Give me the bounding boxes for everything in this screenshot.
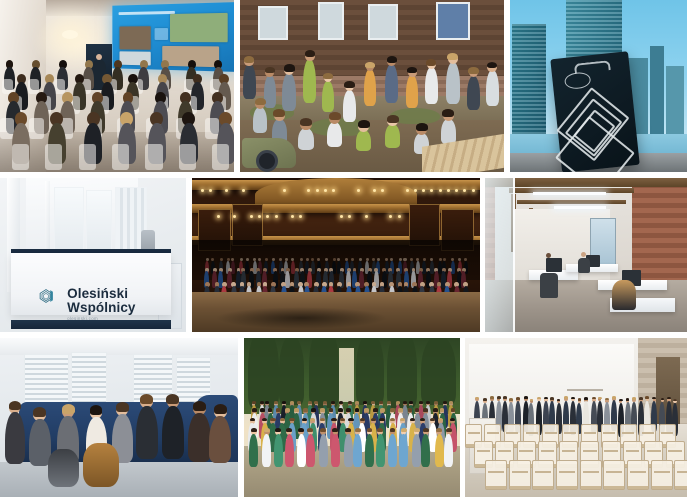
person-silhouette (486, 62, 499, 106)
group-member (376, 429, 385, 467)
group-member (319, 429, 328, 467)
person-silhouette (322, 74, 334, 112)
chair-back (179, 144, 196, 170)
gallery-tile-office-reception-logo[interactable]: Olesiński Wspólnicy olesinski.com (0, 178, 186, 332)
loft-office-scene (485, 178, 687, 332)
wooden-chair (556, 460, 578, 490)
gallery-tile-loft-office[interactable] (485, 178, 687, 332)
theatre-light (291, 215, 294, 218)
theatre-light (447, 189, 450, 192)
person-silhouette (441, 110, 456, 144)
group-member (306, 429, 315, 467)
theatre-light (439, 189, 442, 192)
theatre-light (266, 215, 269, 218)
dog-left (48, 449, 79, 487)
theatre-light (250, 215, 253, 218)
theatre-light (398, 215, 401, 218)
company-logo-icon (30, 288, 62, 304)
group-member (297, 429, 306, 467)
chair-back (112, 144, 129, 170)
theatre-light (332, 189, 335, 192)
dog-right (83, 443, 119, 488)
branded-tote-skyline-scene (510, 0, 687, 172)
volunteer-gardening-scene (240, 0, 504, 172)
theatre-light (365, 215, 368, 218)
gallery-tile-team-with-dogs[interactable] (0, 338, 238, 497)
branded-tote-bag (550, 51, 639, 172)
theatre-light (406, 189, 409, 192)
group-member (435, 429, 444, 467)
theatre-light (472, 189, 475, 192)
person-silhouette (467, 68, 480, 110)
team-member (188, 402, 211, 462)
team-member (209, 405, 231, 463)
gallery-tile-conference-presentation[interactable] (0, 0, 234, 172)
theatre-light (217, 215, 220, 218)
person-silhouette (327, 113, 342, 147)
theatre-light (283, 189, 286, 192)
wooden-chair (603, 460, 625, 490)
theatre-group-scene (192, 178, 480, 332)
brand-name-line1: Olesiński (67, 287, 135, 301)
theatre-light (357, 189, 360, 192)
theatre-light (430, 189, 433, 192)
theatre-light (209, 189, 212, 192)
team-member (136, 395, 158, 459)
person-silhouette (343, 82, 356, 122)
theatre-light (225, 189, 228, 192)
gallery-tile-volunteer-gardening[interactable] (240, 0, 504, 172)
person-silhouette (406, 68, 418, 108)
reception-desk: Olesiński Wspólnicy olesinski.com (11, 253, 171, 315)
conference-presentation-scene (0, 0, 234, 172)
theatre-light (348, 215, 351, 218)
theatre-light (373, 189, 376, 192)
person-silhouette (243, 57, 256, 99)
photo-gallery-grid: Olesiński Wspólnicy olesinski.com (0, 0, 687, 497)
company-logo-text: Olesiński Wspólnicy olesinski.com (67, 287, 135, 321)
group-member (274, 429, 283, 467)
theatre-light (242, 189, 245, 192)
chair-back (12, 144, 29, 170)
theatre-light (275, 215, 278, 218)
group-member (412, 429, 421, 467)
group-member (421, 429, 430, 467)
chair-back (45, 144, 62, 170)
wooden-chair (651, 460, 673, 490)
chair-back (145, 144, 162, 170)
wooden-chair (674, 460, 687, 490)
theatre-light (389, 215, 392, 218)
group-member (344, 429, 353, 467)
theatre-light (455, 189, 458, 192)
person-silhouette (425, 60, 438, 104)
chair-back (79, 144, 96, 170)
theatre-light (258, 215, 261, 218)
wooden-chair (509, 460, 531, 490)
person-silhouette (385, 116, 400, 148)
outdoor-summer-group-scene (244, 338, 460, 497)
theatre-light (324, 189, 327, 192)
team-with-dogs-scene (0, 338, 238, 497)
theatre-light (414, 189, 417, 192)
theatre-light (299, 215, 302, 218)
wooden-chair (627, 460, 649, 490)
person-silhouette (303, 51, 316, 103)
gallery-tile-theatre-group[interactable] (192, 178, 480, 332)
team-member (5, 402, 25, 464)
office-reception-scene: Olesiński Wspólnicy olesinski.com (0, 178, 186, 332)
theatre-light (201, 189, 204, 192)
brand-name-line2: Wspólnicy (67, 301, 135, 315)
theatre-light (316, 189, 319, 192)
gallery-tile-white-hall-staff[interactable] (465, 338, 687, 497)
wooden-chair (580, 460, 602, 490)
group-member (249, 429, 258, 467)
gallery-tile-branded-tote-skyline[interactable] (510, 0, 687, 172)
chair-back (29, 118, 43, 139)
theatre-light (381, 189, 384, 192)
person-silhouette (364, 62, 376, 106)
group-member (399, 429, 408, 467)
theatre-light (463, 189, 466, 192)
group-member (365, 429, 374, 467)
group-member (353, 429, 362, 467)
wooden-chair (485, 460, 507, 490)
theatre-light (340, 215, 343, 218)
theatre-light (233, 215, 236, 218)
chair-back (212, 144, 229, 170)
white-hall-staff-scene (465, 338, 687, 497)
team-member (29, 408, 51, 466)
theatre-light (422, 189, 425, 192)
person-silhouette (282, 65, 296, 111)
theatre-light (307, 189, 310, 192)
person-silhouette (253, 99, 267, 133)
group-member (388, 429, 397, 467)
group-member (262, 429, 271, 467)
wooden-chair (532, 460, 554, 490)
person-silhouette (446, 54, 460, 104)
group-member (331, 429, 340, 467)
group-member (444, 429, 453, 467)
person-silhouette (356, 121, 371, 151)
person-silhouette (385, 57, 398, 103)
person-silhouette (298, 118, 314, 150)
gallery-tile-outdoor-summer-group[interactable] (244, 338, 460, 497)
team-member (162, 395, 184, 459)
group-member (285, 429, 294, 467)
